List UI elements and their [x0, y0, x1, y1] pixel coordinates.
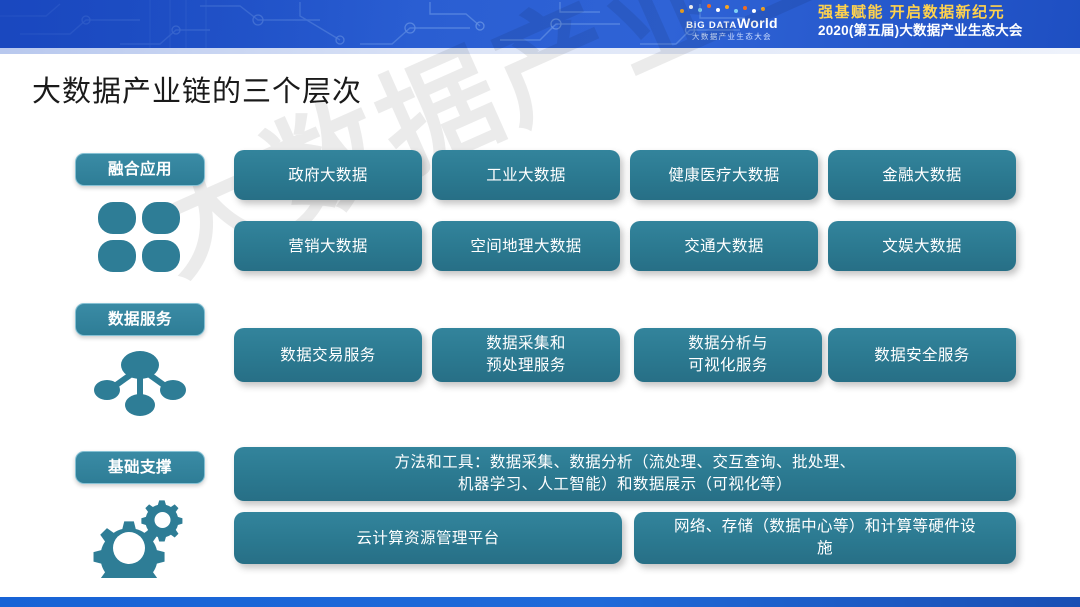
logo-subtitle: 大数据产业生态大会: [652, 33, 812, 41]
network-nodes-icon: [90, 348, 190, 420]
header-sheen: [0, 0, 420, 48]
slogan-secondary: 2020(第五届)大数据产业生态大会: [818, 22, 1066, 40]
slogan-primary: 强基赋能 开启数据新纪元: [818, 3, 1066, 22]
box-label: 空间地理大数据: [470, 236, 581, 257]
gears-icon: [88, 496, 192, 578]
footer-bar: [0, 597, 1080, 607]
box-app-government[interactable]: 政府大数据: [234, 150, 422, 200]
slide-root: BiG DATAWorld 大数据产业生态大会 强基赋能 开启数据新纪元 202…: [0, 0, 1080, 607]
layer-label-fusion-application: 融合应用: [75, 153, 205, 186]
layer-fusion-application: 融合应用: [60, 153, 220, 276]
box-app-healthcare[interactable]: 健康医疗大数据: [630, 150, 818, 200]
box-label: 文娱大数据: [882, 236, 962, 257]
logo-dots-icon: [652, 4, 812, 15]
box-foundation-hardware[interactable]: 网络、存储（数据中心等）和计算等硬件设 施: [634, 512, 1016, 564]
layer-data-service: 数据服务: [60, 303, 220, 420]
box-label: 金融大数据: [882, 165, 962, 186]
logo-world-text: World: [737, 15, 778, 31]
header-slogan: 强基赋能 开启数据新纪元 2020(第五届)大数据产业生态大会: [818, 3, 1066, 40]
box-label: 数据安全服务: [874, 345, 969, 366]
layer-label-data-service: 数据服务: [75, 303, 205, 336]
box-app-entertainment[interactable]: 文娱大数据: [828, 221, 1016, 271]
box-foundation-methods-tools[interactable]: 方法和工具：数据采集、数据分析（流处理、交互查询、批处理、 机器学习、人工智能）…: [234, 447, 1016, 501]
box-app-industry[interactable]: 工业大数据: [432, 150, 620, 200]
box-label: 方法和工具：数据采集、数据分析（流处理、交互查询、批处理、 机器学习、人工智能）…: [394, 452, 855, 496]
four-blocks-icon: [94, 198, 186, 276]
box-label: 政府大数据: [288, 165, 368, 186]
box-app-finance[interactable]: 金融大数据: [828, 150, 1016, 200]
layer-infrastructure-support: 基础支撑: [60, 451, 220, 578]
box-app-transportation[interactable]: 交通大数据: [630, 221, 818, 271]
logo-bigdata-text: BiG DATA: [686, 20, 737, 31]
box-service-data-security[interactable]: 数据安全服务: [828, 328, 1016, 382]
box-service-analysis-visualization[interactable]: 数据分析与 可视化服务: [634, 328, 822, 382]
box-label: 交通大数据: [684, 236, 764, 257]
box-label: 网络、存储（数据中心等）和计算等硬件设 施: [674, 516, 976, 560]
box-service-data-trading[interactable]: 数据交易服务: [234, 328, 422, 382]
box-label: 数据分析与 可视化服务: [688, 333, 768, 377]
header-underline: [0, 48, 1080, 54]
layer-label-infrastructure-support: 基础支撑: [75, 451, 205, 484]
logo-wordmark: BiG DATAWorld: [652, 16, 812, 31]
box-label: 云计算资源管理平台: [356, 528, 499, 549]
box-label: 工业大数据: [486, 165, 566, 186]
box-label: 数据交易服务: [280, 345, 375, 366]
page-title: 大数据产业链的三个层次: [32, 68, 362, 110]
box-label: 数据采集和 预处理服务: [486, 333, 566, 377]
box-foundation-cloud-platform[interactable]: 云计算资源管理平台: [234, 512, 622, 564]
box-label: 健康医疗大数据: [668, 165, 779, 186]
conference-logo: BiG DATAWorld 大数据产业生态大会: [652, 4, 812, 46]
box-service-collection-preprocessing[interactable]: 数据采集和 预处理服务: [432, 328, 620, 382]
box-label: 营销大数据: [288, 236, 368, 257]
box-app-marketing[interactable]: 营销大数据: [234, 221, 422, 271]
box-app-geospatial[interactable]: 空间地理大数据: [432, 221, 620, 271]
header-banner: BiG DATAWorld 大数据产业生态大会 强基赋能 开启数据新纪元 202…: [0, 0, 1080, 48]
